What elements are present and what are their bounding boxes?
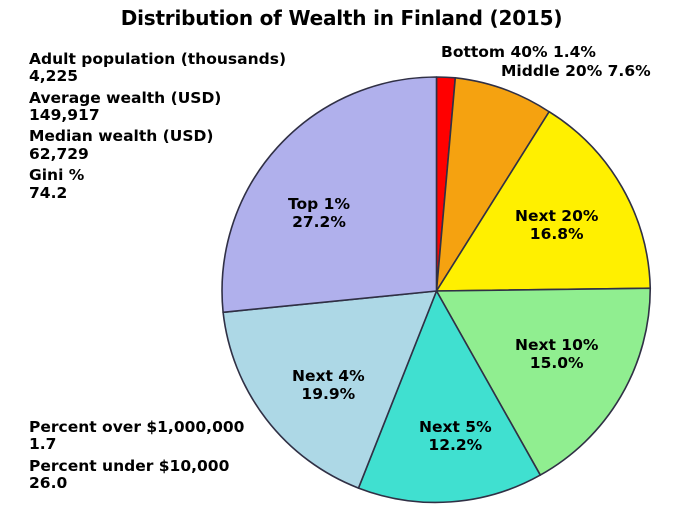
pie-label-next-10-name: Next 10% — [515, 337, 598, 355]
pie-label-next-20-value: 16.8% — [515, 226, 598, 244]
wealth-distribution-chart: Distribution of Wealth in Finland (2015)… — [0, 0, 683, 512]
stat-percent-under-ten-thousand-label: Percent under $10,000 — [29, 458, 244, 475]
pie-label-top-1: Top 1% 27.2% — [288, 196, 350, 231]
pie-label-top-1-name: Top 1% — [288, 196, 350, 214]
stat-percent-over-million-label: Percent over $1,000,000 — [29, 419, 244, 436]
pie-label-middle-20: Middle 20% 7.6% — [501, 62, 651, 80]
summary-stats-bottom: Percent over $1,000,000 1.7 Percent unde… — [29, 419, 244, 496]
stat-adult-population-value: 4,225 — [29, 68, 286, 85]
pie-label-next-10-value: 15.0% — [515, 355, 598, 373]
stat-percent-over-million: Percent over $1,000,000 1.7 — [29, 419, 244, 454]
pie-label-next-4-value: 19.9% — [292, 386, 365, 404]
stat-adult-population: Adult population (thousands) 4,225 — [29, 51, 286, 86]
stat-median-wealth: Median wealth (USD) 62,729 — [29, 128, 286, 163]
pie-label-next-4: Next 4% 19.9% — [292, 368, 365, 403]
stat-percent-under-ten-thousand-value: 26.0 — [29, 475, 244, 492]
stat-percent-under-ten-thousand: Percent under $10,000 26.0 — [29, 458, 244, 493]
stat-gini: Gini % 74.2 — [29, 167, 286, 202]
stat-gini-label: Gini % — [29, 167, 286, 184]
pie-label-next-20-name: Next 20% — [515, 208, 598, 226]
stat-median-wealth-value: 62,729 — [29, 146, 286, 163]
pie-label-next-4-name: Next 4% — [292, 368, 365, 386]
pie-label-next-5: Next 5% 12.2% — [419, 419, 492, 454]
pie-label-top-1-value: 27.2% — [288, 214, 350, 232]
pie-label-next-10: Next 10% 15.0% — [515, 337, 598, 372]
stat-average-wealth-label: Average wealth (USD) — [29, 90, 286, 107]
pie-label-next-5-name: Next 5% — [419, 419, 492, 437]
stat-average-wealth: Average wealth (USD) 149,917 — [29, 90, 286, 125]
stat-adult-population-label: Adult population (thousands) — [29, 51, 286, 68]
pie-label-next-5-value: 12.2% — [419, 437, 492, 455]
pie-label-next-20: Next 20% 16.8% — [515, 208, 598, 243]
stat-median-wealth-label: Median wealth (USD) — [29, 128, 286, 145]
stat-percent-over-million-value: 1.7 — [29, 436, 244, 453]
pie-label-bottom-40: Bottom 40% 1.4% — [441, 43, 596, 61]
stat-average-wealth-value: 149,917 — [29, 107, 286, 124]
summary-stats-top: Adult population (thousands) 4,225 Avera… — [29, 51, 286, 206]
stat-gini-value: 74.2 — [29, 185, 286, 202]
